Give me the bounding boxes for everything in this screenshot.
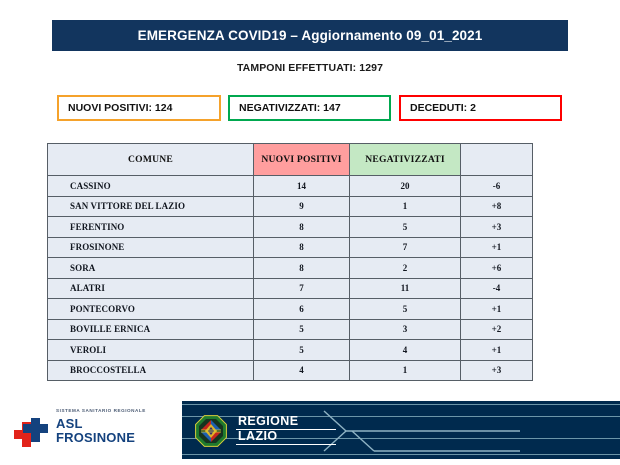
page-title: EMERGENZA COVID19 – Aggiornamento 09_01_… — [138, 28, 483, 43]
cell-nuovi-positivi: 9 — [254, 196, 350, 217]
cell-negativizzati: 1 — [350, 196, 461, 217]
column-header-comune: COMUNE — [48, 144, 254, 176]
asl-name-text: ASL FROSINONE — [56, 417, 135, 444]
cell-nuovi-positivi: 8 — [254, 258, 350, 279]
cell-nuovi-positivi: 5 — [254, 319, 350, 340]
cell-negativizzati: 4 — [350, 340, 461, 361]
cell-negativizzati: 7 — [350, 237, 461, 258]
cell-comune: VEROLI — [48, 340, 254, 361]
table-row: VEROLI54+1 — [48, 340, 533, 361]
cell-nuovi-positivi: 7 — [254, 278, 350, 299]
comuni-table: COMUNE NUOVI POSITIVI NEGATIVIZZATI CASS… — [47, 143, 533, 381]
regione-lazio-line2: LAZIO — [238, 429, 298, 444]
cell-comune: CASSINO — [48, 176, 254, 197]
covid-report-slide: EMERGENZA COVID19 – Aggiornamento 09_01_… — [0, 0, 620, 465]
cell-negativizzati: 3 — [350, 319, 461, 340]
cell-negativizzati: 20 — [350, 176, 461, 197]
cell-delta: +6 — [461, 258, 533, 279]
cell-delta: +3 — [461, 360, 533, 381]
cell-nuovi-positivi: 4 — [254, 360, 350, 381]
table-row: CASSINO1420-6 — [48, 176, 533, 197]
cell-delta: +1 — [461, 340, 533, 361]
cell-delta: -6 — [461, 176, 533, 197]
cell-negativizzati: 11 — [350, 278, 461, 299]
asl-frosinone-logo: SISTEMA SANITARIO REGIONALE ASL FROSINON… — [14, 404, 174, 454]
cell-comune: SAN VITTORE DEL LAZIO — [48, 196, 254, 217]
chevron-decoration-icon — [322, 409, 522, 453]
cell-delta: -4 — [461, 278, 533, 299]
stat-box-negativizzati-label: NEGATIVIZZATI: 147 — [230, 102, 341, 114]
text-underline — [236, 429, 336, 430]
table-row: ALATRI711-4 — [48, 278, 533, 299]
regione-lazio-emblem-icon — [195, 415, 227, 447]
regione-lazio-line1: REGIONE — [238, 414, 298, 429]
cell-negativizzati: 2 — [350, 258, 461, 279]
table-row: SAN VITTORE DEL LAZIO91+8 — [48, 196, 533, 217]
cell-comune: BROCCOSTELLA — [48, 360, 254, 381]
column-header-nuovi-positivi: NUOVI POSITIVI — [254, 144, 350, 176]
stat-box-deceduti-label: DECEDUTI: 2 — [401, 102, 476, 114]
cell-comune: BOVILLE ERNICA — [48, 319, 254, 340]
regione-lazio-footer-bar: REGIONE LAZIO — [182, 401, 620, 459]
header-banner: EMERGENZA COVID19 – Aggiornamento 09_01_… — [52, 20, 568, 51]
table-row: FERENTINO85+3 — [48, 217, 533, 238]
cell-delta: +3 — [461, 217, 533, 238]
column-header-delta — [461, 144, 533, 176]
cell-delta: +2 — [461, 319, 533, 340]
table-header-row: COMUNE NUOVI POSITIVI NEGATIVIZZATI — [48, 144, 533, 176]
cell-nuovi-positivi: 8 — [254, 217, 350, 238]
cell-nuovi-positivi: 5 — [254, 340, 350, 361]
cell-negativizzati: 5 — [350, 217, 461, 238]
column-header-negativizzati: NEGATIVIZZATI — [350, 144, 461, 176]
tamponi-total-text: TAMPONI EFFETTUATI: 1297 — [0, 62, 620, 74]
cell-comune: FERENTINO — [48, 217, 254, 238]
cell-comune: SORA — [48, 258, 254, 279]
table-row: FROSINONE87+1 — [48, 237, 533, 258]
stat-box-nuovi-positivi-label: NUOVI POSITIVI: 124 — [59, 102, 172, 114]
cell-nuovi-positivi: 8 — [254, 237, 350, 258]
cell-nuovi-positivi: 6 — [254, 299, 350, 320]
decorative-line — [182, 454, 620, 455]
cell-negativizzati: 5 — [350, 299, 461, 320]
table-row: PONTECORVO65+1 — [48, 299, 533, 320]
cell-nuovi-positivi: 14 — [254, 176, 350, 197]
cell-comune: PONTECORVO — [48, 299, 254, 320]
table-row: BOVILLE ERNICA53+2 — [48, 319, 533, 340]
medical-cross-icon — [14, 418, 48, 448]
text-underline — [236, 444, 336, 445]
asl-sistema-sanitario-text: SISTEMA SANITARIO REGIONALE — [56, 408, 146, 413]
asl-name-line2: FROSINONE — [56, 431, 135, 445]
cell-delta: +1 — [461, 237, 533, 258]
asl-name-line1: ASL — [56, 417, 135, 431]
stat-box-negativizzati: NEGATIVIZZATI: 147 — [228, 95, 391, 121]
decorative-line — [182, 404, 620, 405]
table-row: SORA82+6 — [48, 258, 533, 279]
stat-box-nuovi-positivi: NUOVI POSITIVI: 124 — [57, 95, 221, 121]
stat-box-deceduti: DECEDUTI: 2 — [399, 95, 562, 121]
cell-comune: FROSINONE — [48, 237, 254, 258]
cell-negativizzati: 1 — [350, 360, 461, 381]
cell-delta: +8 — [461, 196, 533, 217]
table-row: BROCCOSTELLA41+3 — [48, 360, 533, 381]
cell-comune: ALATRI — [48, 278, 254, 299]
cell-delta: +1 — [461, 299, 533, 320]
